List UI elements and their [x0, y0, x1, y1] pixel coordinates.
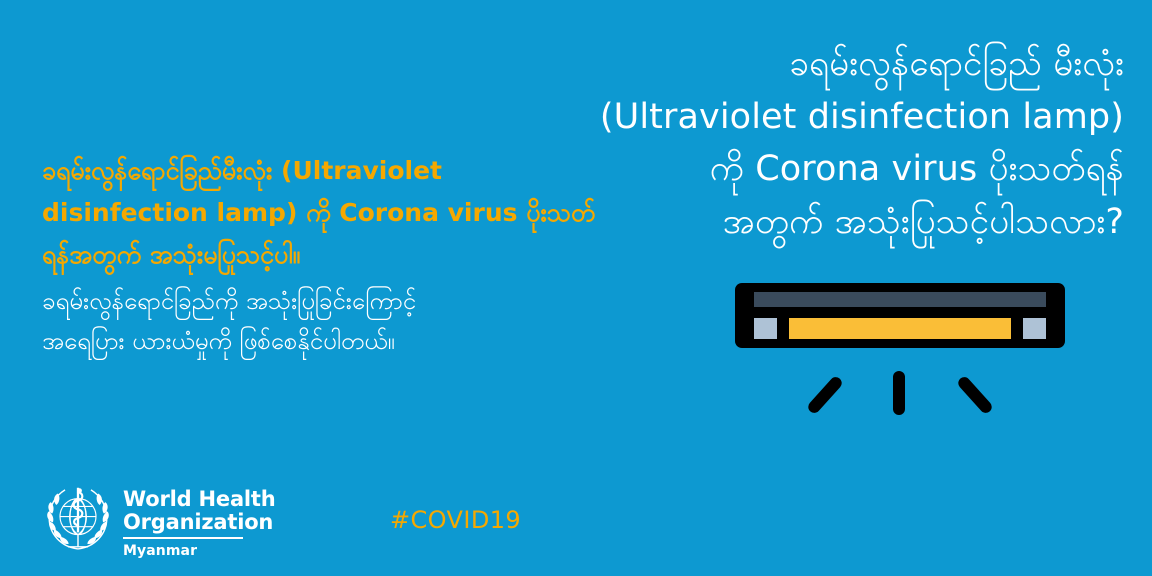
lamp-tube	[789, 318, 1011, 339]
who-name-line-2: Organization	[123, 511, 276, 534]
hashtag-covid19: #COVID19	[390, 506, 521, 534]
info-line-2: အရေပြား ယားယံမှုကို ဖြစ်စေနိုင်ပါတယ်။	[42, 322, 608, 362]
info-line-1: ခရမ်းလွန်ရောင်ခြည်ကို အသုံးပြုခြင်းကြောင…	[42, 282, 608, 322]
warning-line-1: ခရမ်းလွန်ရောင်ခြည်မီးလုံး (Ultraviolet	[42, 150, 608, 192]
warning-line-2: disinfection lamp) ကို Corona virus ပိုး…	[42, 192, 608, 234]
rod-of-asclepius-icon	[74, 488, 83, 533]
light-ray-center-icon	[893, 371, 905, 415]
headline-line-2: (Ultraviolet disinfection lamp)	[576, 91, 1124, 144]
who-name-line-1: World Health	[123, 488, 276, 511]
lamp-top-bar	[754, 292, 1046, 307]
headline-line-4: အတွက် အသုံးပြုသင့်ပါသလား?	[576, 196, 1124, 249]
info-paragraph: ခရမ်းလွန်ရောင်ခြည်ကို အသုံးပြုခြင်းကြောင…	[42, 282, 608, 362]
who-country-label: Myanmar	[123, 543, 276, 559]
who-logo: World Health Organization Myanmar	[42, 482, 276, 559]
lamp-end-cap-right	[1023, 318, 1046, 339]
lamp-end-cap-left	[754, 318, 777, 339]
headline: ခရမ်းလွန်ရောင်ခြည် မီးလုံး (Ultraviolet …	[576, 38, 1124, 248]
lamp-housing	[735, 283, 1065, 348]
uv-lamp-illustration	[726, 278, 1074, 423]
warning-paragraph: ခရမ်းလွန်ရောင်ခြည်မီးလုံး (Ultraviolet d…	[42, 150, 608, 276]
warning-line-3: ရန်အတွက် အသုံးမပြုသင့်ပါ။	[42, 234, 608, 276]
headline-line-3: ကို Corona virus ပိုးသတ်ရန်	[576, 143, 1124, 196]
light-ray-right-icon	[956, 375, 994, 416]
who-divider	[123, 537, 243, 539]
headline-line-1: ခရမ်းလွန်ရောင်ခြည် မီးလုံး	[576, 38, 1124, 91]
poster-canvas: ခရမ်းလွန်ရောင်ခြည် မီးလုံး (Ultraviolet …	[0, 0, 1152, 576]
light-ray-left-icon	[806, 375, 844, 416]
who-wordmark: World Health Organization Myanmar	[123, 482, 276, 559]
who-emblem-icon	[42, 482, 114, 554]
body-text-block: ခရမ်းလွန်ရောင်ခြည်မီးလုံး (Ultraviolet d…	[42, 150, 608, 362]
